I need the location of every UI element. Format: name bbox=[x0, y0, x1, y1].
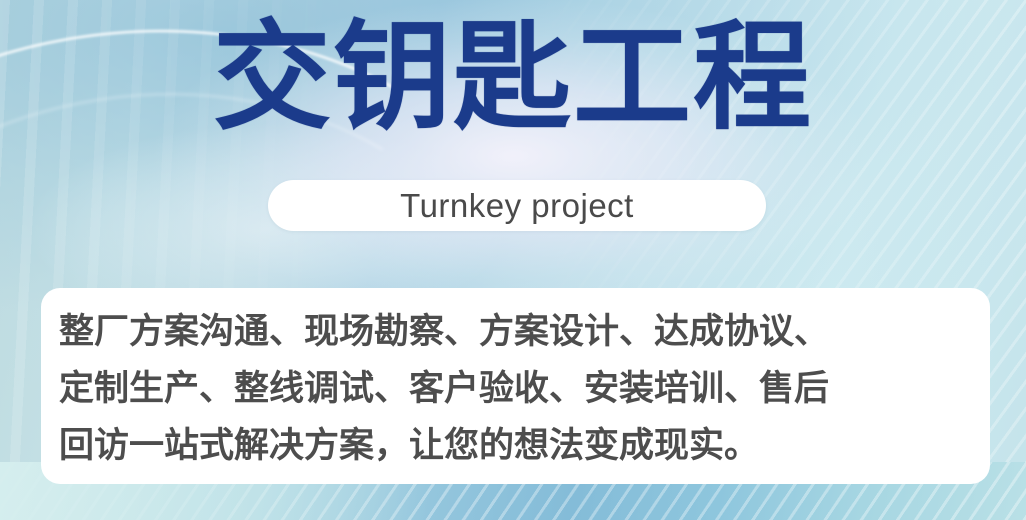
description-card: 整厂方案沟通、现场勘察、方案设计、达成协议、 定制生产、整线调试、客户验收、安装… bbox=[41, 288, 990, 484]
subtitle-label: Turnkey project bbox=[400, 189, 634, 222]
description-line: 整厂方案沟通、现场勘察、方案设计、达成协议、 bbox=[59, 303, 972, 360]
description-line: 定制生产、整线调试、客户验收、安装培训、售后 bbox=[59, 360, 972, 417]
subtitle-pill: Turnkey project bbox=[268, 180, 766, 231]
description-line: 回访一站式解决方案，让您的想法变成现实。 bbox=[59, 417, 972, 474]
page-title: 交钥匙工程 bbox=[0, 19, 1026, 137]
turnkey-project-banner: 交钥匙工程 Turnkey project 整厂方案沟通、现场勘察、方案设计、达… bbox=[0, 0, 1026, 520]
